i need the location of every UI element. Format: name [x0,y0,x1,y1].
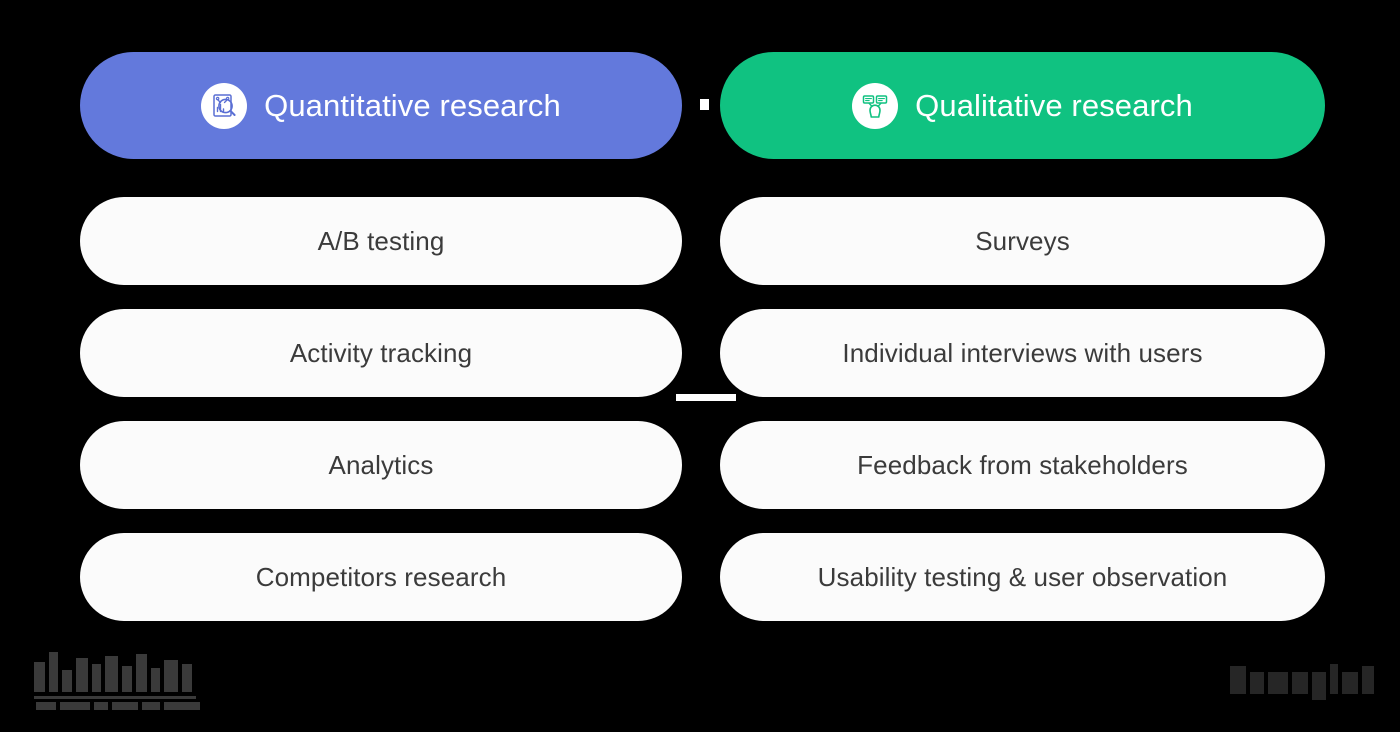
footer-logo-right [1228,660,1378,705]
diagram-canvas: Quantitative research A/B testing Activi… [0,0,1400,732]
footer-logo-left [32,648,204,715]
item-label: Analytics [329,450,434,481]
item-pill-quant-1[interactable]: A/B testing [80,197,682,285]
header-label-qualitative: Qualitative research [915,88,1193,124]
column-gap-divider [676,394,736,401]
item-pill-qual-3[interactable]: Feedback from stakeholders [720,421,1325,509]
item-pill-quant-2[interactable]: Activity tracking [80,309,682,397]
header-pill-qualitative[interactable]: Qualitative research [720,52,1325,159]
item-pill-quant-3[interactable]: Analytics [80,421,682,509]
item-label: Usability testing & user observation [818,562,1228,593]
people-speech-bubbles-icon [852,83,898,129]
item-pill-qual-2[interactable]: Individual interviews with users [720,309,1325,397]
item-label: Activity tracking [290,338,472,369]
column-quantitative: Quantitative research A/B testing Activi… [80,52,682,621]
item-label: Individual interviews with users [842,338,1202,369]
item-pill-qual-1[interactable]: Surveys [720,197,1325,285]
item-label: Feedback from stakeholders [857,450,1188,481]
item-label: Surveys [975,226,1070,257]
column-qualitative: Qualitative research Surveys Individual … [720,52,1325,621]
header-pill-quantitative[interactable]: Quantitative research [80,52,682,159]
chart-document-magnifier-icon [201,83,247,129]
header-label-quantitative: Quantitative research [264,88,561,124]
item-pill-quant-4[interactable]: Competitors research [80,533,682,621]
item-label: Competitors research [256,562,507,593]
comparison-columns: Quantitative research A/B testing Activi… [0,0,1400,732]
item-label: A/B testing [318,226,445,257]
column-gap-marker [700,99,709,110]
item-pill-qual-4[interactable]: Usability testing & user observation [720,533,1325,621]
